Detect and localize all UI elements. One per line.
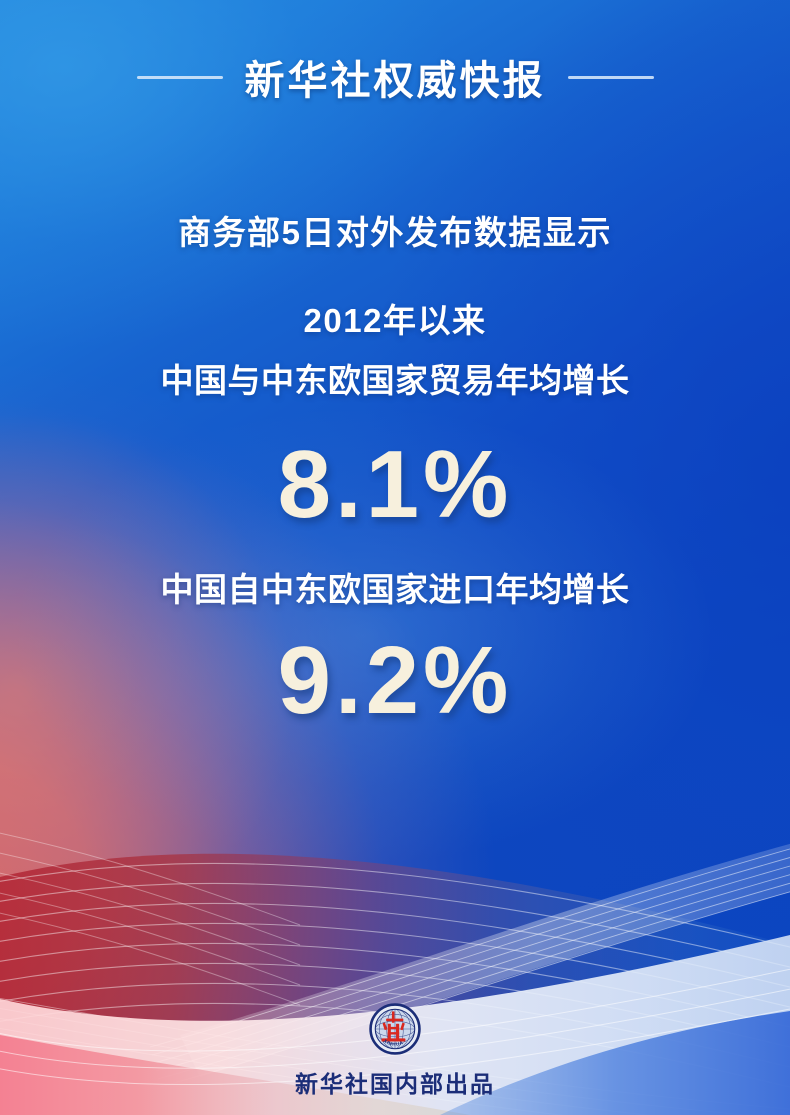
spacer [0,533,790,569]
spacer [0,342,790,360]
page-title: 新华社权威快报 [245,48,546,106]
metric2-label: 中国自中东欧国家进口年均增长 [0,569,790,611]
poster-header: 新华社权威快报 [0,48,790,106]
source-line: 商务部5日对外发布数据显示 [0,212,790,254]
poster-canvas: 新华社权威快报 商务部5日对外发布数据显示 2012年以来 中国与中东欧国家贸易… [0,0,790,1115]
spacer [0,254,790,300]
footer-credit: 新华社国内部出品 [295,1065,495,1099]
period-line: 2012年以来 [0,300,790,342]
poster-footer: XINHUA 新华社国内部出品 [0,1003,790,1099]
metric1-value: 8.1% [0,437,790,533]
rule-right-icon [568,76,654,79]
main-content: 商务部5日对外发布数据显示 2012年以来 中国与中东欧国家贸易年均增长 8.1… [0,212,790,729]
metric1-label: 中国与中东欧国家贸易年均增长 [0,360,790,402]
rule-left-icon [137,76,223,79]
metric2-value: 9.2% [0,633,790,729]
xinhua-logo-icon: XINHUA [369,1003,421,1055]
